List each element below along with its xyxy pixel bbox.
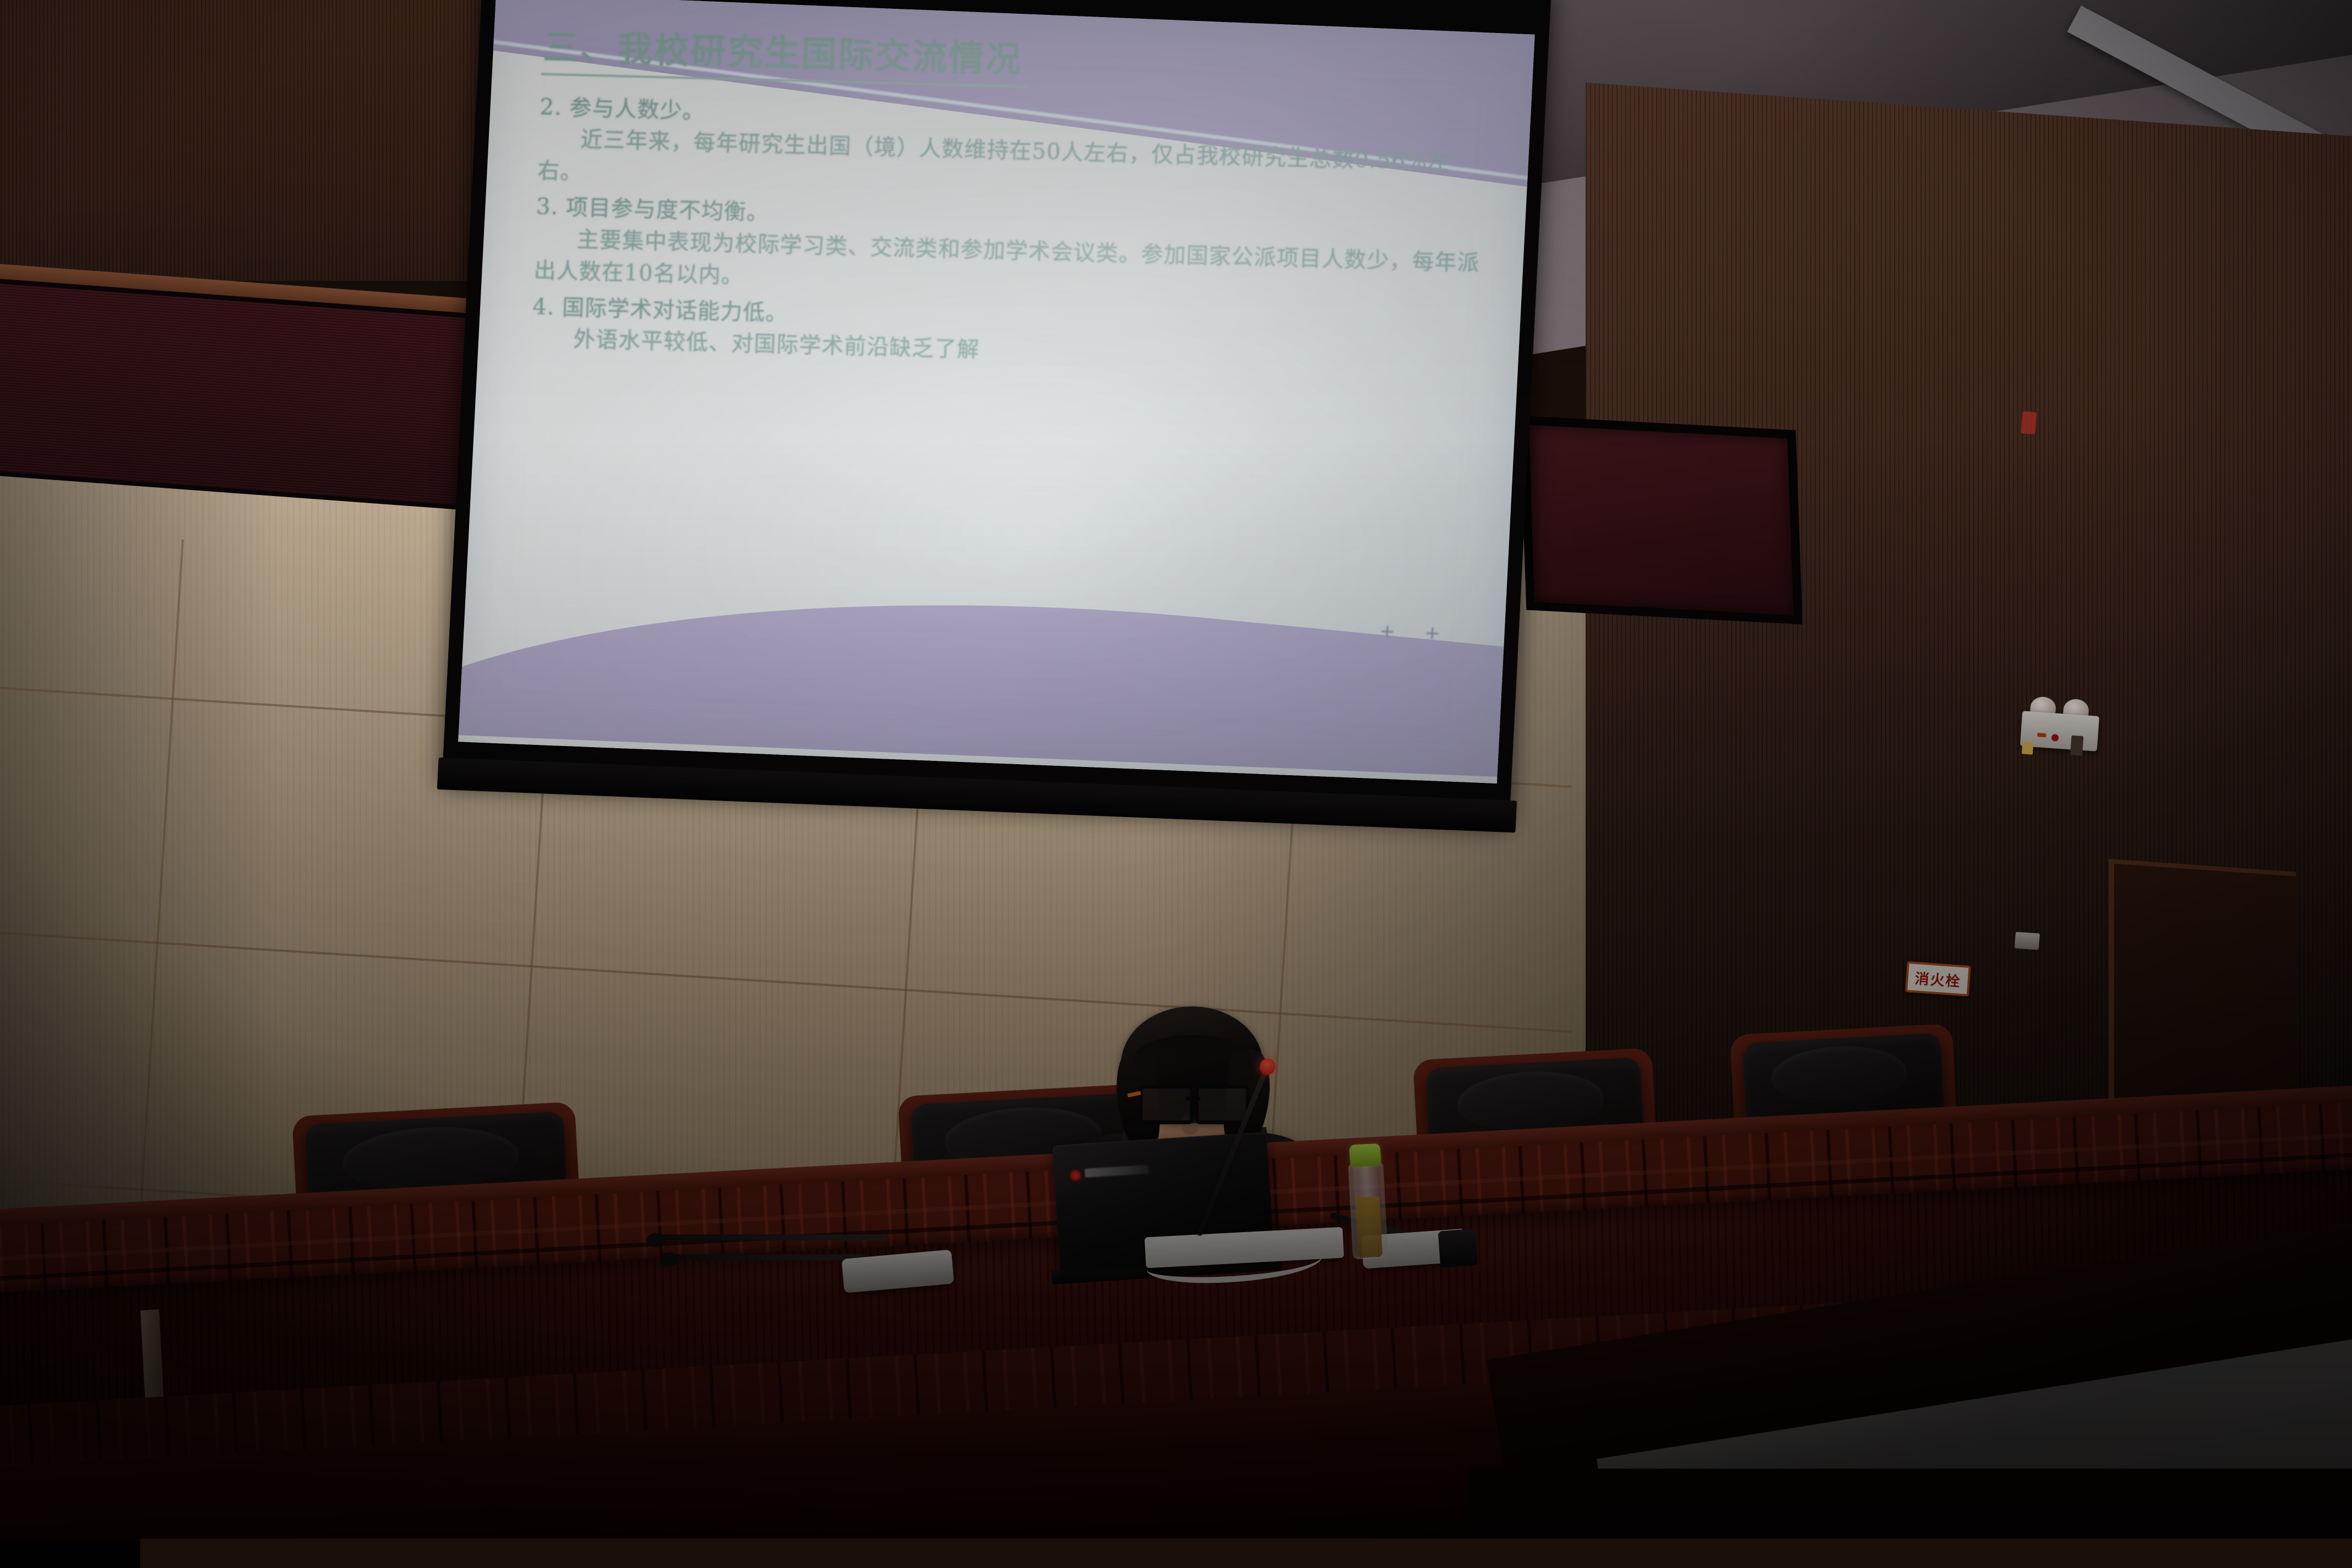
acoustic-panel — [1520, 416, 1803, 624]
glasses-lens-left — [1139, 1085, 1194, 1124]
laptop-brand-wordmark — [1085, 1165, 1149, 1178]
laptop-logo-icon — [1070, 1170, 1081, 1180]
red-bottle-cap — [2122, 1512, 2180, 1568]
microphone-rod-upper — [655, 1234, 886, 1240]
emergency-light-tab — [2022, 742, 2033, 754]
microphone-resting — [655, 1224, 955, 1300]
emergency-light-body — [2020, 711, 2099, 752]
speaker-fringe — [1134, 1035, 1251, 1081]
emergency-light-slot — [2070, 735, 2083, 755]
slide-corner-marks: + + — [1380, 618, 1452, 648]
slide: 三、我校研究生国际交流情况 2. 参与人数少。 近三年来，每年研究生出国（境）人… — [458, 0, 1534, 783]
slide-bullet: 2. 参与人数少。 近三年来，每年研究生出国（境）人数维持在50人左右，仅占我校… — [537, 91, 1496, 212]
projection-screen: 三、我校研究生国际交流情况 2. 参与人数少。 近三年来，每年研究生出国（境）人… — [442, 0, 1551, 818]
photo-scene: 消火栓 三、我校研究生国际交流情况 2. 参与人数少。 近三年来，每年研究生出国… — [0, 0, 2352, 1568]
glasses-icon — [1136, 1085, 1251, 1119]
wall-plate — [2015, 932, 2040, 950]
glasses-bridge — [1186, 1097, 1200, 1101]
fire-hydrant-sign-label: 消火栓 — [1914, 967, 1962, 991]
fire-hydrant-sign: 消火栓 — [1905, 961, 1971, 997]
microphone-base-housing — [1438, 1229, 1478, 1268]
slide-content: 三、我校研究生国际交流情况 2. 参与人数少。 近三年来，每年研究生出国（境）人… — [531, 27, 1499, 384]
wall-marker — [2021, 411, 2037, 434]
emergency-light-led — [2051, 734, 2059, 742]
microphone-head-lower — [659, 1252, 678, 1267]
microphone-head-upper — [646, 1233, 666, 1248]
water-bottle — [1347, 1143, 1389, 1259]
glasses-lens-right — [1195, 1085, 1250, 1124]
emergency-light-indicator — [2037, 733, 2046, 737]
water-bottle-contents — [1355, 1196, 1383, 1258]
microphone-rod-lower — [667, 1254, 865, 1260]
emergency-light — [2020, 695, 2100, 752]
slide-bullet: 3. 项目参与度不均衡。 主要集中表现为校际学习类、交流类和参加学术会议类。参加… — [533, 191, 1493, 312]
water-bottle-cap — [1349, 1144, 1381, 1167]
